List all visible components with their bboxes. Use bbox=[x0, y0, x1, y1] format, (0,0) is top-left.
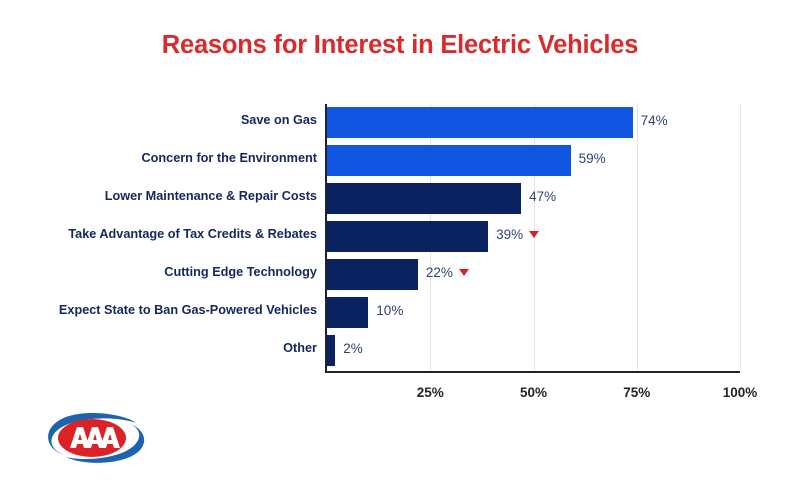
category-label-4: Take Advantage of Tax Credits & Rebates bbox=[17, 228, 317, 241]
gridline-100pct bbox=[740, 104, 741, 370]
aaa-logo bbox=[44, 410, 148, 470]
x-tick-label-75pct: 75% bbox=[602, 386, 672, 400]
bar-value-text: 10% bbox=[376, 303, 403, 318]
bar-row[interactable]: 74% bbox=[327, 104, 740, 142]
bar-value-label: 10% bbox=[376, 304, 403, 318]
bar-1[interactable] bbox=[327, 107, 633, 138]
bar-3[interactable] bbox=[327, 183, 521, 214]
category-label-2: Concern for the Environment bbox=[17, 152, 317, 165]
category-label-5: Cutting Edge Technology bbox=[17, 266, 317, 279]
bar-5[interactable] bbox=[327, 259, 418, 290]
category-label-3: Lower Maintenance & Repair Costs bbox=[17, 190, 317, 203]
bar-value-label: 2% bbox=[343, 342, 363, 356]
bar-value-text: 59% bbox=[579, 151, 606, 166]
bar-value-label: 74% bbox=[641, 114, 668, 128]
bar-value-text: 47% bbox=[529, 189, 556, 204]
category-label-7: Other bbox=[17, 342, 317, 355]
bar-value-text: 22% bbox=[426, 265, 453, 280]
bar-7[interactable] bbox=[327, 335, 335, 366]
bar-value-label: 47% bbox=[529, 190, 556, 204]
page-title: Reasons for Interest in Electric Vehicle… bbox=[0, 33, 800, 59]
x-tick-label-50pct: 50% bbox=[499, 386, 569, 400]
bar-row[interactable]: 59% bbox=[327, 142, 740, 180]
bar-value-label: 59% bbox=[579, 152, 606, 166]
bar-2[interactable] bbox=[327, 145, 571, 176]
bar-value-text: 39% bbox=[496, 227, 523, 242]
bar-value-text: 2% bbox=[343, 341, 363, 356]
category-label-1: Save on Gas bbox=[17, 114, 317, 127]
x-tick-label-100pct: 100% bbox=[705, 386, 775, 400]
bar-row[interactable]: 10% bbox=[327, 294, 740, 332]
bar-chart-plot-area: 74%59%47%39%22%10%2% bbox=[327, 104, 740, 370]
bar-row[interactable]: 22% bbox=[327, 256, 740, 294]
bar-value-label: 39% bbox=[496, 228, 539, 242]
bar-4[interactable] bbox=[327, 221, 488, 252]
x-tick-label-25pct: 25% bbox=[395, 386, 465, 400]
triangle-down-icon bbox=[459, 269, 469, 276]
bar-row[interactable]: 47% bbox=[327, 180, 740, 218]
triangle-down-icon bbox=[529, 231, 539, 238]
bar-6[interactable] bbox=[327, 297, 368, 328]
x-axis-line bbox=[325, 371, 740, 373]
category-label-6: Expect State to Ban Gas-Powered Vehicles bbox=[17, 304, 317, 317]
slide-canvas: Reasons for Interest in Electric Vehicle… bbox=[0, 0, 800, 492]
bar-row[interactable]: 2% bbox=[327, 332, 740, 370]
bar-value-label: 22% bbox=[426, 266, 469, 280]
bar-value-text: 74% bbox=[641, 113, 668, 128]
bar-row[interactable]: 39% bbox=[327, 218, 740, 256]
